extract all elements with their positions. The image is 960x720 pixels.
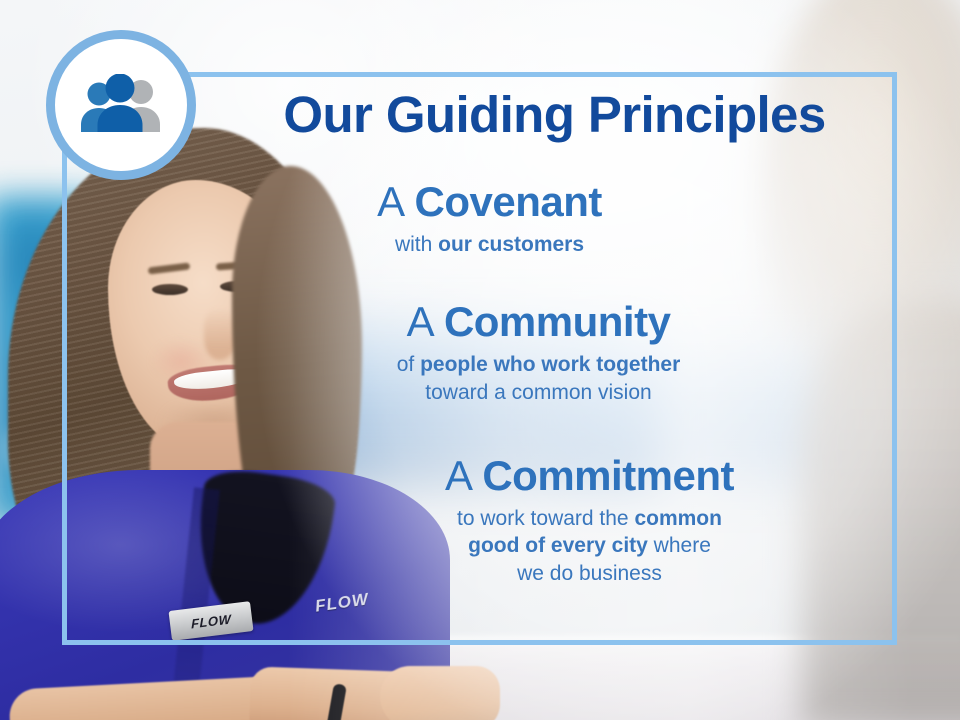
page-title: Our Guiding Principles <box>62 88 897 142</box>
subtext-line: good of every city where <box>282 532 897 560</box>
principle-article: A <box>407 298 433 345</box>
principle-word: Covenant <box>415 178 602 225</box>
subtext-run: to work toward the <box>457 507 634 530</box>
principle-headline: A Community <box>180 300 897 345</box>
guiding-principles-banner: FLOW FLOW Our Guiding Principles <box>0 0 960 720</box>
subtext-run: of <box>397 353 420 376</box>
principle-article: A <box>377 178 403 225</box>
principle-subtext: with our customers <box>82 231 897 259</box>
principle-word: Community <box>444 298 671 345</box>
subtext-run: toward a common vision <box>425 381 651 404</box>
principle-subtext: of people who work togethertoward a comm… <box>180 351 897 407</box>
subtext-run: with <box>395 233 438 256</box>
subtext-emphasis: people who work together <box>420 353 680 376</box>
subtext-run: where <box>648 534 711 557</box>
principle-headline: A Commitment <box>282 454 897 499</box>
text-content: Our Guiding Principles A Covenant with o… <box>62 72 897 645</box>
principle-block-covenant: A Covenant with our customers <box>62 180 897 259</box>
clasped-hands <box>380 666 500 720</box>
subtext-line: to work toward the common <box>282 505 897 533</box>
subtext-run: we do business <box>517 562 662 585</box>
subtext-line: toward a common vision <box>180 379 897 407</box>
subtext-emphasis: good of every city <box>468 534 648 557</box>
principle-word: Commitment <box>482 452 734 499</box>
principle-block-community: A Community of people who work togethert… <box>62 300 897 407</box>
subtext-emphasis: our customers <box>438 233 584 256</box>
principle-headline: A Covenant <box>82 180 897 225</box>
subtext-emphasis: common <box>634 507 722 530</box>
principle-subtext: to work toward the commongood of every c… <box>282 505 897 588</box>
subtext-line: with our customers <box>82 231 897 259</box>
principle-article: A <box>445 452 471 499</box>
principle-block-commitment: A Commitment to work toward the commongo… <box>62 454 897 588</box>
subtext-line: of people who work together <box>180 351 897 379</box>
subtext-line: we do business <box>282 560 897 588</box>
